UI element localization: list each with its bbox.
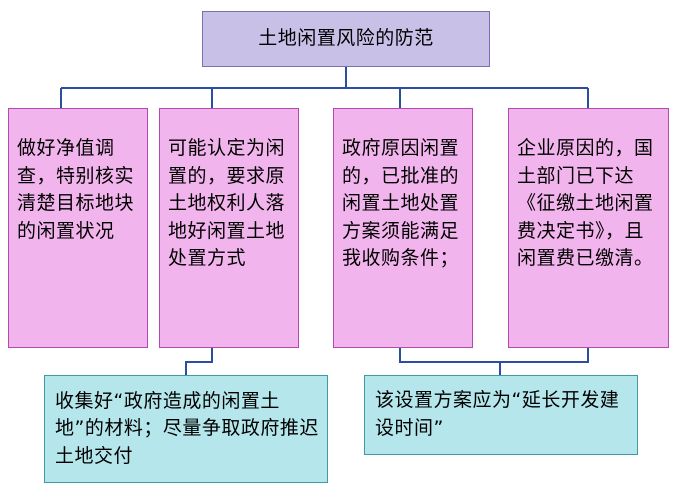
diagram-node-4: 企业原因的，国土部门已下达《征缴土地闲置费决定书》，且闲置费已缴清。: [508, 108, 669, 348]
diagram-node-1: 做好净值调查，特别核实清楚目标地块的闲置状况: [8, 108, 148, 348]
diagram-node-4-text: 企业原因的，国土部门已下达《征缴土地闲置费决定书》，且闲置费已缴清。: [517, 135, 660, 273]
diagram-note-2: 该设置方案应为“延长开发建设时间”: [364, 375, 638, 455]
diagram-node-3-text: 政府原因闲置的，已批准的闲置土地处置方案须能满足我收购条件；: [342, 135, 464, 273]
diagram-note-1-text: 收集好“政府造成的闲置土地”的材料；尽量争取政府推迟土地交付: [55, 388, 319, 471]
diagram-node-3: 政府原因闲置的，已批准的闲置土地处置方案须能满足我收购条件；: [333, 108, 473, 348]
diagram-node-2-text: 可能认定为闲置的，要求原土地权利人落地好闲置土地处置方式: [168, 135, 290, 273]
diagram-node-2: 可能认定为闲置的，要求原土地权利人落地好闲置土地处置方式: [159, 108, 299, 348]
diagram-note-1: 收集好“政府造成的闲置土地”的材料；尽量争取政府推迟土地交付: [44, 375, 328, 483]
diagram-canvas: 土地闲置风险的防范 做好净值调查，特别核实清楚目标地块的闲置状况 可能认定为闲置…: [0, 0, 681, 497]
diagram-title-text: 土地闲置风险的防范: [258, 25, 434, 53]
diagram-node-1-text: 做好净值调查，特别核实清楚目标地块的闲置状况: [17, 135, 139, 245]
diagram-note-2-text: 该设置方案应为“延长开发建设时间”: [375, 387, 629, 442]
diagram-title-box: 土地闲置风险的防范: [202, 11, 490, 67]
